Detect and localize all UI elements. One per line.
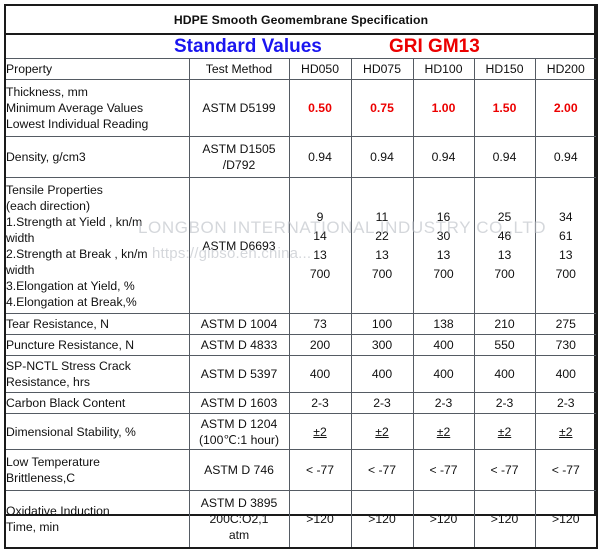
value-cell: 0.50: [289, 80, 351, 137]
value-cell: 138: [413, 314, 474, 335]
value-cell: 34 61 13 700: [535, 178, 597, 314]
value-text: 0.50: [308, 101, 332, 115]
test-method-cell: ASTM D6693: [189, 178, 289, 314]
property-cell: SP-NCTL Stress Crack Resistance, hrs: [5, 356, 189, 393]
value-cell: >120: [351, 491, 413, 549]
value-cell: 730: [535, 335, 597, 356]
value-cell: ±2: [413, 414, 474, 450]
value-cell: 400: [535, 356, 597, 393]
value-text: ±2: [437, 425, 450, 439]
test-method-cell: ASTM D 1603: [189, 393, 289, 414]
value-cell: 0.75: [351, 80, 413, 137]
value-cell: 16 30 13 700: [413, 178, 474, 314]
test-method-cell: ASTM D 5397: [189, 356, 289, 393]
value-cell: 200: [289, 335, 351, 356]
subtitle-row: Standard ValuesGRI GM13: [5, 34, 597, 59]
property-cell: Thickness, mm Minimum Average Values Low…: [5, 80, 189, 137]
value-cell: 0.94: [474, 137, 535, 178]
value-cell: 400: [351, 356, 413, 393]
property-cell: Tensile Properties (each direction) 1.St…: [5, 178, 189, 314]
value-cell: 2-3: [289, 393, 351, 414]
table-row: Thickness, mm Minimum Average Values Low…: [5, 80, 597, 137]
value-cell: 9 14 13 700: [289, 178, 351, 314]
value-cell: >120: [474, 491, 535, 549]
value-cell: 2.00: [535, 80, 597, 137]
table-row: Tear Resistance, NASTM D 100473100138210…: [5, 314, 597, 335]
table-row: Dimensional Stability, %ASTM D 1204 (100…: [5, 414, 597, 450]
table-row: Carbon Black ContentASTM D 16032-32-32-3…: [5, 393, 597, 414]
table-header-row: PropertyTest MethodHD050HD075HD100HD150H…: [5, 59, 597, 80]
value-cell: 25 46 13 700: [474, 178, 535, 314]
value-cell: 1.00: [413, 80, 474, 137]
value-text: ±2: [313, 425, 326, 439]
column-header-grade: HD075: [351, 59, 413, 80]
value-text: ±2: [559, 425, 572, 439]
property-cell: Oxidative Induction Time, min: [5, 491, 189, 549]
document-title: HDPE Smooth Geomembrane Specification: [5, 5, 597, 34]
column-header-grade: HD050: [289, 59, 351, 80]
specification-table: HDPE Smooth Geomembrane SpecificationSta…: [4, 4, 598, 549]
value-cell: 1.50: [474, 80, 535, 137]
table-row: Density, g/cm3ASTM D1505 /D7920.940.940.…: [5, 137, 597, 178]
value-cell: < -77: [474, 450, 535, 491]
test-method-cell: ASTM D 746: [189, 450, 289, 491]
column-header-grade: HD200: [535, 59, 597, 80]
test-method-cell: ASTM D5199: [189, 80, 289, 137]
value-cell: < -77: [351, 450, 413, 491]
property-cell: Dimensional Stability, %: [5, 414, 189, 450]
table-row: SP-NCTL Stress Crack Resistance, hrsASTM…: [5, 356, 597, 393]
column-header-grade: HD150: [474, 59, 535, 80]
value-cell: >120: [535, 491, 597, 549]
value-cell: 0.94: [535, 137, 597, 178]
value-cell: < -77: [535, 450, 597, 491]
value-cell: 73: [289, 314, 351, 335]
value-cell: ±2: [535, 414, 597, 450]
value-cell: 400: [413, 356, 474, 393]
value-cell: >120: [413, 491, 474, 549]
value-cell: 2-3: [535, 393, 597, 414]
value-cell: 550: [474, 335, 535, 356]
property-cell: Tear Resistance, N: [5, 314, 189, 335]
column-header-property: Property: [5, 59, 189, 80]
value-cell: < -77: [289, 450, 351, 491]
test-method-cell: ASTM D 3895 200C:O2,1 atm: [189, 491, 289, 549]
table-row: Low Temperature Brittleness,CASTM D 746<…: [5, 450, 597, 491]
value-cell: 2-3: [413, 393, 474, 414]
value-cell: 300: [351, 335, 413, 356]
value-cell: 0.94: [289, 137, 351, 178]
value-cell: < -77: [413, 450, 474, 491]
test-method-cell: ASTM D 1204 (100℃:1 hour): [189, 414, 289, 450]
value-cell: 2-3: [351, 393, 413, 414]
value-cell: 400: [474, 356, 535, 393]
table-row: Tensile Properties (each direction) 1.St…: [5, 178, 597, 314]
value-text: 2.00: [554, 101, 578, 115]
value-cell: 11 22 13 700: [351, 178, 413, 314]
subtitle-standard-values: Standard Values: [174, 36, 322, 58]
value-cell: 0.94: [413, 137, 474, 178]
value-cell: >120: [289, 491, 351, 549]
table-row: Oxidative Induction Time, minASTM D 3895…: [5, 491, 597, 549]
table-row: Puncture Resistance, NASTM D 48332003004…: [5, 335, 597, 356]
property-cell: Puncture Resistance, N: [5, 335, 189, 356]
value-cell: 400: [413, 335, 474, 356]
value-cell: ±2: [289, 414, 351, 450]
value-text: 0.75: [370, 101, 394, 115]
value-text: 1.50: [493, 101, 517, 115]
value-cell: 400: [289, 356, 351, 393]
value-cell: ±2: [474, 414, 535, 450]
property-cell: Carbon Black Content: [5, 393, 189, 414]
value-cell: 210: [474, 314, 535, 335]
test-method-cell: ASTM D 1004: [189, 314, 289, 335]
test-method-cell: ASTM D1505 /D792: [189, 137, 289, 178]
value-cell: ±2: [351, 414, 413, 450]
column-header-grade: HD100: [413, 59, 474, 80]
specification-sheet: LONGBON INTERNATIONAL INDUSTRY CO.,LTD h…: [0, 0, 600, 520]
subtitle-gri-gm13: GRI GM13: [389, 36, 480, 58]
value-cell: 275: [535, 314, 597, 335]
value-cell: 2-3: [474, 393, 535, 414]
property-cell: Low Temperature Brittleness,C: [5, 450, 189, 491]
value-cell: 0.94: [351, 137, 413, 178]
property-cell: Density, g/cm3: [5, 137, 189, 178]
column-header-test-method: Test Method: [189, 59, 289, 80]
value-text: ±2: [375, 425, 388, 439]
test-method-cell: ASTM D 4833: [189, 335, 289, 356]
value-text: ±2: [498, 425, 511, 439]
value-cell: 100: [351, 314, 413, 335]
value-text: 1.00: [432, 101, 456, 115]
